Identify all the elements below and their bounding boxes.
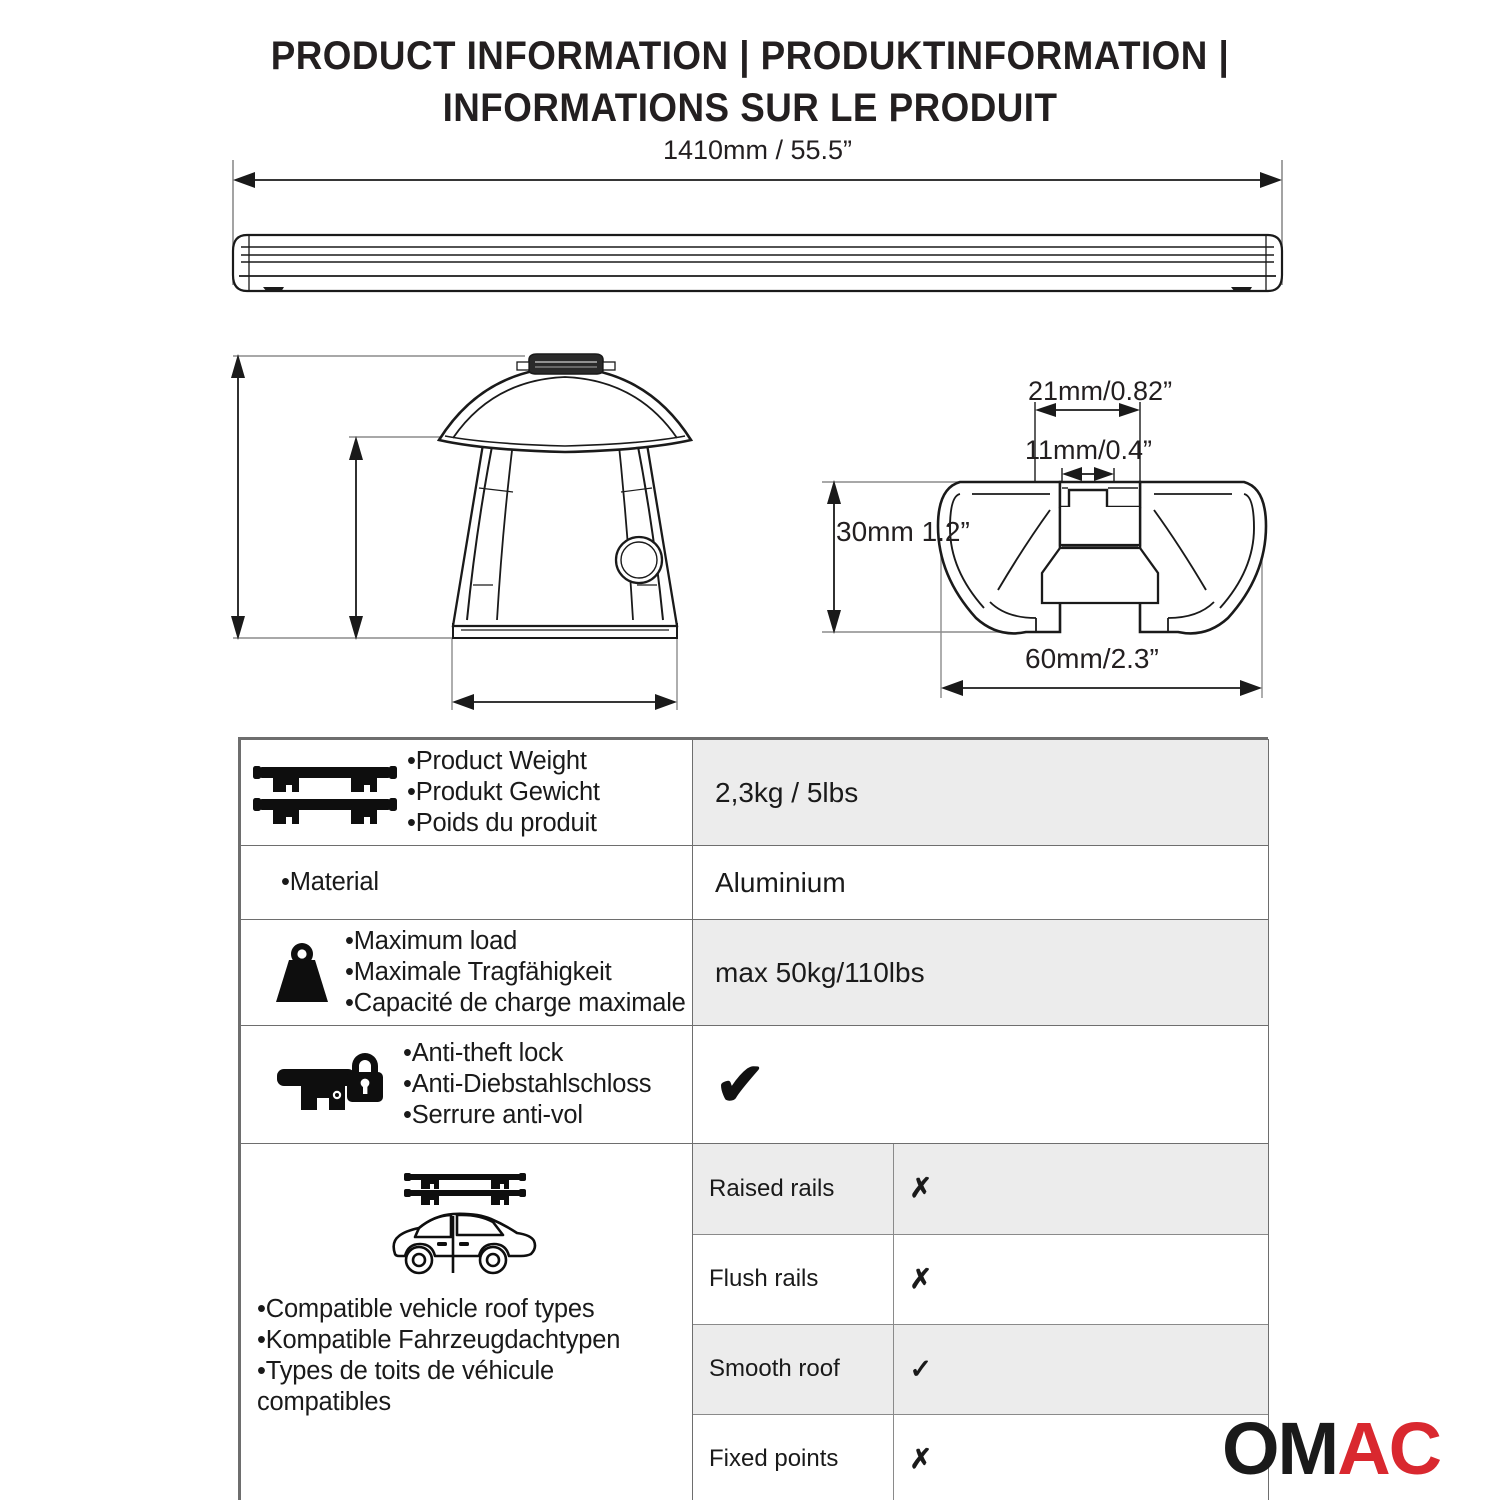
roof-type-mark: ✗ — [893, 1234, 1269, 1324]
row-label-text: •Anti-theft lock •Anti-Diebstahlschloss … — [403, 1038, 651, 1131]
roof-type-name: Flush rails — [693, 1234, 893, 1324]
page-title: PRODUCT INFORMATION | PRODUKTINFORMATION… — [0, 30, 1500, 134]
profile-dimension-diagram: 21mm/0.82” 11mm/0.4” 30mm 1.2” 60mm/2.3” — [810, 360, 1295, 705]
row-label-maximum-load: •Maximum load •Maximale Tragfähigkeit •C… — [241, 920, 693, 1026]
roof-type-row: Smooth roof ✓ — [693, 1324, 1269, 1414]
logo-text-ac: AC — [1337, 1407, 1440, 1490]
row-label-text: •Material — [281, 867, 379, 898]
row-label-anti-theft-lock: •Anti-theft lock •Anti-Diebstahlschloss … — [241, 1026, 693, 1144]
roof-type-row: Fixed points ✗ — [693, 1414, 1269, 1500]
table-row: •Product Weight •Produkt Gewicht •Poids … — [241, 740, 1269, 846]
row-label-text: •Product Weight •Produkt Gewicht •Poids … — [407, 746, 600, 839]
roof-type-row: Flush rails ✗ — [693, 1234, 1269, 1324]
title-line-2: INFORMATIONS SUR LE PRODUIT — [60, 82, 1440, 134]
roof-type-mark: ✗ — [893, 1414, 1269, 1500]
roof-type-row: Raised rails ✗ — [693, 1144, 1269, 1234]
roof-types-subtable-cell: Raised rails ✗ Flush rails ✗ Smooth roof… — [693, 1144, 1269, 1500]
roof-type-name: Raised rails — [693, 1144, 893, 1234]
row-label-roof-types: •Compatible vehicle roof types •Kompatib… — [241, 1144, 693, 1500]
roof-rack-foot-front-view-icon — [225, 340, 725, 715]
table-row: •Maximum load •Maximale Tragfähigkeit •C… — [241, 920, 1269, 1026]
title-line-1: PRODUCT INFORMATION | PRODUKTINFORMATION… — [60, 30, 1440, 82]
logo-text-om: OM — [1222, 1407, 1337, 1490]
roof-type-name: Fixed points — [693, 1414, 893, 1500]
row-value-maximum-load: max 50kg/110lbs — [693, 920, 1269, 1026]
foot-dimension-diagram: 125mm 4.9” 90mm 3.8” 104mm / 4.1” — [225, 340, 725, 715]
row-label-text: •Maximum load •Maximale Tragfähigkeit •C… — [345, 926, 686, 1019]
profile-width-label: 60mm/2.3” — [1025, 643, 1159, 675]
profile-height-label: 30mm 1.2” — [836, 515, 970, 549]
two-crossbars-icon — [249, 759, 401, 827]
roof-type-name: Smooth roof — [693, 1324, 893, 1414]
roof-type-mark: ✗ — [893, 1144, 1269, 1234]
row-value-product-weight: 2,3kg / 5lbs — [693, 740, 1269, 846]
crossbar-length-diagram: 1410mm / 55.5” — [225, 135, 1290, 320]
row-value-anti-theft-lock: ✔ — [693, 1026, 1269, 1144]
car-with-roof-rack-icon — [379, 1168, 549, 1280]
table-row: •Material Aluminium — [241, 846, 1269, 920]
omac-logo: OMAC — [1222, 1412, 1440, 1486]
row-label-material: •Material — [241, 846, 693, 920]
slot-inner-width-label: 11mm/0.4” — [1025, 435, 1152, 466]
row-label-text: •Compatible vehicle roof types •Kompatib… — [249, 1294, 620, 1418]
specification-table: •Product Weight •Produkt Gewicht •Poids … — [238, 737, 1268, 1500]
slot-outer-width-label: 21mm/0.82” — [1028, 376, 1172, 407]
table-row: •Compatible vehicle roof types •Kompatib… — [241, 1144, 1269, 1500]
table-row: •Anti-theft lock •Anti-Diebstahlschloss … — [241, 1026, 1269, 1144]
weight-icon — [271, 940, 333, 1006]
crossbar-length-label: 1410mm / 55.5” — [225, 135, 1290, 166]
row-label-product-weight: •Product Weight •Produkt Gewicht •Poids … — [241, 740, 693, 846]
lock-icon — [271, 1047, 389, 1123]
row-value-material: Aluminium — [693, 846, 1269, 920]
product-information-sheet: PRODUCT INFORMATION | PRODUKTINFORMATION… — [0, 0, 1500, 1500]
roof-type-mark: ✓ — [893, 1324, 1269, 1414]
roof-types-subtable: Raised rails ✗ Flush rails ✗ Smooth roof… — [693, 1144, 1269, 1500]
